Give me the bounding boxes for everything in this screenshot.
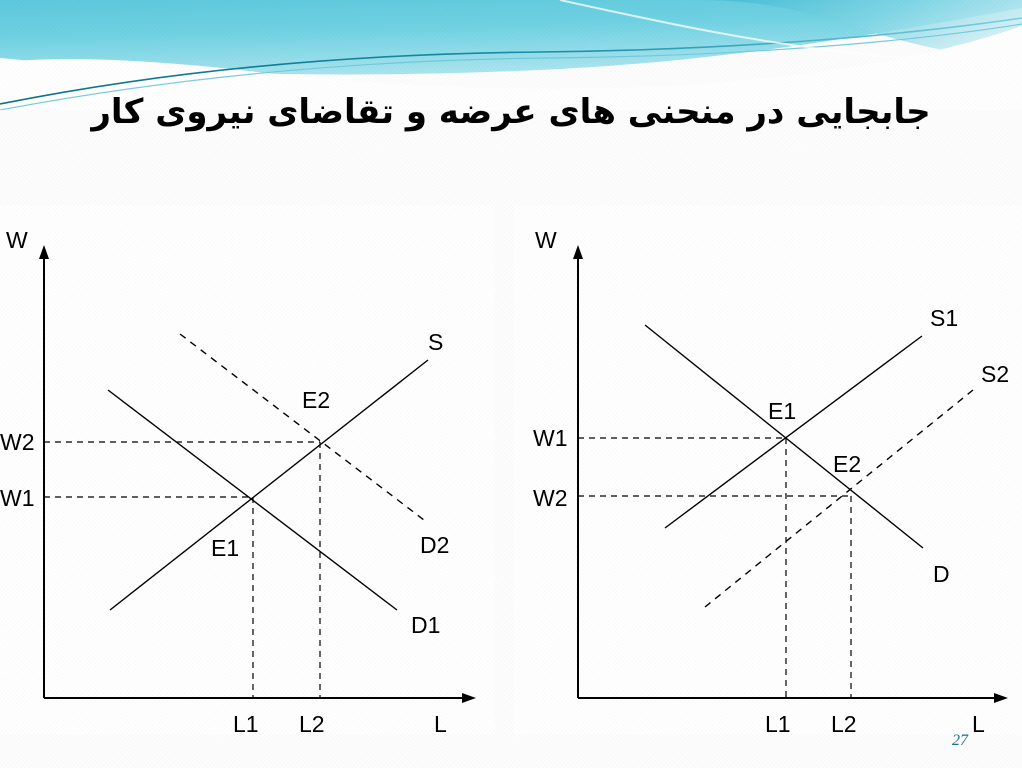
x-tick-label-l2: L2 [831,711,857,735]
curve-label-s1: S1 [930,305,958,331]
supply-curve-S1 [665,336,922,528]
x-tick-label-l1: L1 [765,711,791,735]
supply-shift-chart: W L W1 W2 L1 L2 S1 S2 D E1 E2 [513,205,1022,735]
equilibrium-label-e2: E2 [302,387,330,413]
curve-label-s2: S2 [981,361,1009,387]
y-axis-arrowhead [573,245,583,259]
chart-panel-supply-shift: W L W1 W2 L1 L2 S1 S2 D E1 E2 [513,205,1022,735]
y-axis-arrowhead [39,245,49,259]
curves-group [645,325,973,607]
x-axis-arrowhead [462,693,476,703]
page-title: جابجایی در منحنی های عرضه و تقاضای نیروی… [0,92,1022,133]
curve-label-supply: S [428,329,443,355]
y-tick-label-w1: W1 [533,425,568,451]
curve-label-d2: D2 [420,532,449,558]
curve-label-d: D [933,561,950,587]
demand-curve-D [645,325,923,548]
x-axis-label: L [972,711,985,735]
chart-panel-demand-shift: W L W2 W1 L1 L2 S D2 D1 E2 E1 [0,205,495,735]
y-tick-label-w2: W2 [0,429,35,455]
demand-shift-chart: W L W2 W1 L1 L2 S D2 D1 E2 E1 [0,205,495,735]
curves-group [108,334,428,610]
y-axis-label: W [6,227,28,253]
slide-number: 27 [952,732,968,750]
equilibrium-label-e2: E2 [833,451,861,477]
supply-curve-S [110,360,428,610]
x-axis-arrowhead [994,693,1008,703]
demand-curve-D2 [180,334,424,520]
guide-lines-group [578,438,851,698]
x-tick-label-l2: L2 [299,711,325,735]
equilibrium-label-e1: E1 [211,535,239,561]
slide-canvas: جابجایی در منحنی های عرضه و تقاضای نیروی… [0,0,1022,768]
y-tick-label-w1: W1 [0,485,35,511]
y-axis-label: W [535,227,557,253]
curve-label-d1: D1 [411,612,440,638]
equilibrium-label-e1: E1 [768,398,796,424]
x-tick-label-l1: L1 [233,711,259,735]
y-tick-label-w2: W2 [533,485,568,511]
guide-lines-group [44,442,320,698]
x-axis-label: L [434,711,447,735]
